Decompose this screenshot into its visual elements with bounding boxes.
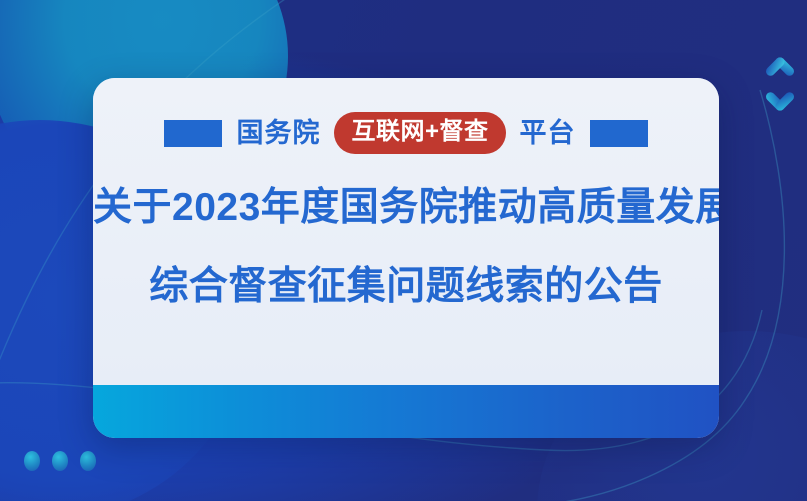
dot-icon — [52, 451, 68, 471]
header-right-bar — [590, 120, 648, 147]
title-line-1: 关于2023年度国务院推动高质量发展 — [93, 188, 719, 227]
title-line-2: 综合督查征集问题线索的公告 — [93, 267, 719, 306]
announcement-card: 国务院 互联网+督查 平台 关于2023年度国务院推动高质量发展 综合督查征集问… — [93, 78, 719, 438]
header-left-word: 国务院 — [236, 120, 320, 147]
platform-diamond-logo-icon — [752, 56, 807, 112]
dot-icon — [24, 451, 40, 471]
poster-canvas: 国务院 互联网+督查 平台 关于2023年度国务院推动高质量发展 综合督查征集问… — [0, 0, 807, 501]
card-body: 国务院 互联网+督查 平台 关于2023年度国务院推动高质量发展 综合督查征集问… — [93, 78, 719, 385]
header-badge: 互联网+督查 — [334, 112, 505, 154]
dot-icon — [80, 451, 96, 471]
decorative-dots — [24, 451, 96, 471]
card-footer-bar — [93, 385, 719, 438]
header-left-bar — [164, 120, 222, 147]
header-right-word: 平台 — [520, 120, 576, 147]
platform-header: 国务院 互联网+督查 平台 — [93, 116, 719, 150]
announcement-title: 关于2023年度国务院推动高质量发展 综合督查征集问题线索的公告 — [93, 188, 719, 306]
